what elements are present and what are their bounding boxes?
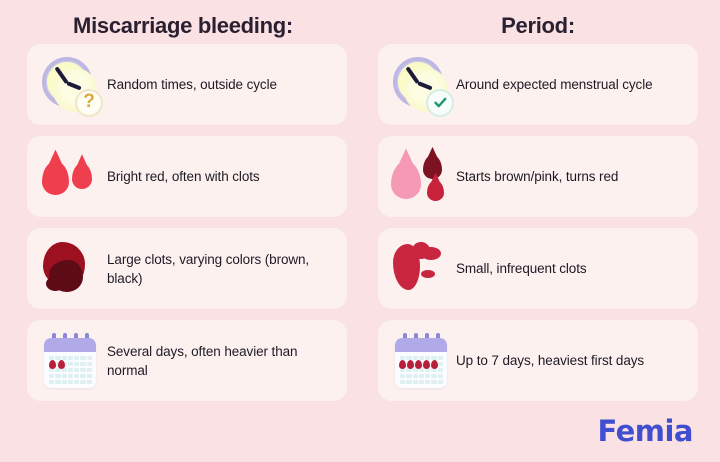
- calendar-two-drops-icon: [39, 330, 101, 392]
- list-item[interactable]: Around expected menstrual cycle: [378, 44, 698, 125]
- list-item-label: Starts brown/pink, turns red: [452, 167, 618, 186]
- column-miscarriage-bleeding: Miscarriage bleeding: ? Random times, ou…: [27, 0, 347, 412]
- blood-drop-large: [42, 161, 69, 195]
- list-item-label: Random times, outside cycle: [101, 75, 277, 94]
- list-item-label: Around expected menstrual cycle: [452, 75, 653, 94]
- calendar-period-drop: [423, 360, 430, 369]
- femia-logo: Femia: [597, 414, 693, 448]
- list-item-label: Large clots, varying colors (brown, blac…: [101, 250, 337, 288]
- list-item-label: Several days, often heavier than normal: [101, 342, 337, 380]
- list-item[interactable]: Starts brown/pink, turns red: [378, 136, 698, 217]
- card-list-miscarriage: ? Random times, outside cycle Bright red…: [27, 44, 347, 401]
- clot-tiny-shape: [421, 270, 435, 278]
- card-list-period: Around expected menstrual cycle Starts b…: [378, 44, 698, 401]
- calendar-five-drops-icon: [390, 330, 452, 392]
- clock-question-icon: ?: [39, 54, 101, 116]
- calendar-period-drop: [49, 360, 56, 369]
- calendar-period-drop: [58, 360, 65, 369]
- question-mark-icon: ?: [75, 89, 103, 117]
- calendar-body: [44, 338, 96, 388]
- blood-drop-brown: [423, 155, 442, 179]
- blood-drop-small: [72, 163, 92, 189]
- calendar-header-band: [44, 338, 96, 352]
- blood-drop-red: [427, 180, 444, 201]
- calendar-period-drop: [407, 360, 414, 369]
- column-period: Period:: [378, 0, 698, 412]
- list-item[interactable]: Bright red, often with clots: [27, 136, 347, 217]
- clot-tail-shape: [46, 276, 64, 291]
- list-item[interactable]: Small, infrequent clots: [378, 228, 698, 309]
- column-heading-miscarriage: Miscarriage bleeding:: [27, 0, 347, 44]
- list-item[interactable]: Large clots, varying colors (brown, blac…: [27, 228, 347, 309]
- calendar-period-drop: [415, 360, 422, 369]
- blood-drop-pink: [391, 161, 421, 199]
- list-item-label: Small, infrequent clots: [452, 259, 587, 278]
- list-item-label: Up to 7 days, heaviest first days: [452, 351, 644, 370]
- pink-brown-red-drops-icon: [390, 146, 452, 208]
- small-clots-icon: [390, 238, 452, 300]
- calendar-period-drop: [431, 360, 438, 369]
- calendar-header-band: [395, 338, 447, 352]
- calendar-body: [395, 338, 447, 388]
- infographic-canvas: Miscarriage bleeding: ? Random times, ou…: [0, 0, 720, 462]
- list-item[interactable]: Several days, often heavier than normal: [27, 320, 347, 401]
- large-dark-clot-icon: [39, 238, 101, 300]
- clot-small-shape: [421, 247, 441, 260]
- clock-check-icon: [390, 54, 452, 116]
- list-item-label: Bright red, often with clots: [101, 167, 260, 186]
- two-bright-red-drops-icon: [39, 146, 101, 208]
- list-item[interactable]: Up to 7 days, heaviest first days: [378, 320, 698, 401]
- check-icon: [426, 89, 454, 117]
- column-heading-period: Period:: [378, 0, 698, 44]
- calendar-period-drop: [399, 360, 406, 369]
- list-item[interactable]: ? Random times, outside cycle: [27, 44, 347, 125]
